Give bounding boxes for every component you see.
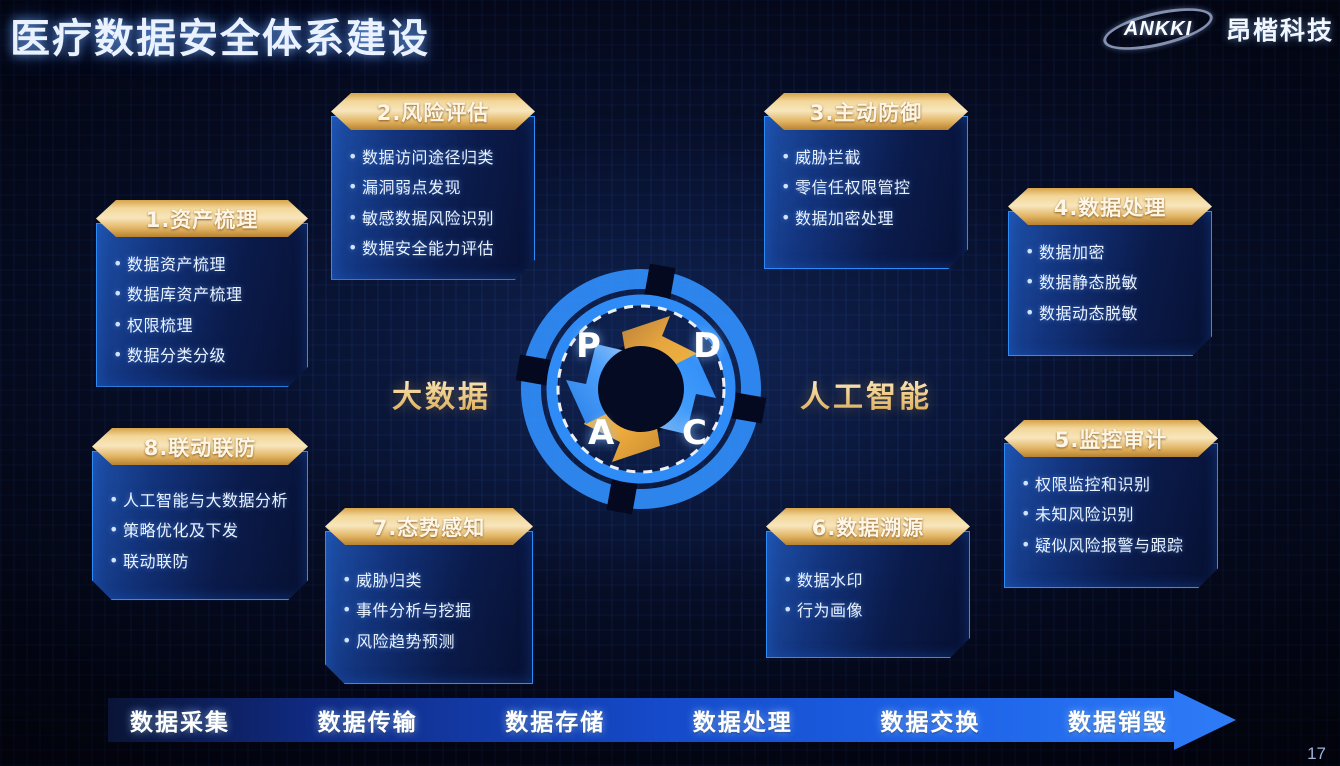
card-1-header: 1.资产梳理 [96,200,308,237]
card-2-list: 数据访问途径归类 漏洞弱点发现 敏感数据风险识别 数据安全能力评估 [348,143,522,265]
pdca-letter-a: A [588,413,614,453]
card-1-title: 1.资产梳理 [146,204,259,234]
list-item: 人工智能与大数据分析 [109,486,295,516]
list-item: 疑似风险报警与跟踪 [1021,531,1205,561]
card-7-title: 7.态势感知 [373,512,486,542]
company-logo: ANKKI 昂楷科技 [1102,8,1334,50]
flow-step-destruction[interactable]: 数据销毁 [1068,703,1168,737]
card-8-title: 8.联动联防 [144,432,257,462]
flow-step-processing[interactable]: 数据处理 [693,703,793,737]
list-item: 联动联防 [109,547,295,577]
card-3-active-defense[interactable]: 3.主动防御 威胁拦截 零信任权限管控 数据加密处理 [764,93,968,269]
list-item: 敏感数据风险识别 [348,204,522,234]
card-2-title: 2.风险评估 [377,97,490,127]
card-6-title: 6.数据溯源 [812,512,925,542]
list-item: 数据加密 [1025,238,1199,268]
list-item: 行为画像 [783,596,957,626]
logo-company-name: 昂楷科技 [1226,11,1334,47]
pdca-letter-d: D [693,326,721,366]
list-item: 数据水印 [783,566,957,596]
card-4-header: 4.数据处理 [1008,188,1212,225]
list-item: 数据动态脱敏 [1025,299,1199,329]
card-1-list: 数据资产梳理 数据库资产梳理 权限梳理 数据分类分级 [113,250,295,372]
list-item: 数据加密处理 [781,204,955,234]
list-item: 权限监控和识别 [1021,470,1205,500]
label-big-data: 大数据 [392,372,491,416]
card-7-situational-awareness[interactable]: 7.态势感知 威胁归类 事件分析与挖掘 风险趋势预测 [325,508,533,684]
list-item: 数据安全能力评估 [348,234,522,264]
card-5-list: 权限监控和识别 未知风险识别 疑似风险报警与跟踪 [1021,470,1205,561]
card-5-title: 5.监控审计 [1055,424,1168,454]
card-3-body: 威胁拦截 零信任权限管控 数据加密处理 [764,116,968,269]
card-4-title: 4.数据处理 [1054,192,1167,222]
list-item: 数据库资产梳理 [113,280,295,310]
card-2-body: 数据访问途径归类 漏洞弱点发现 敏感数据风险识别 数据安全能力评估 [331,116,535,280]
data-lifecycle-flow-arrow: 数据采集 数据传输 数据存储 数据处理 数据交换 数据销毁 [108,690,1236,750]
card-8-list: 人工智能与大数据分析 策略优化及下发 联动联防 [109,486,295,577]
card-8-linked-defense[interactable]: 8.联动联防 人工智能与大数据分析 策略优化及下发 联动联防 [92,428,308,600]
card-8-body: 人工智能与大数据分析 策略优化及下发 联动联防 [92,451,308,600]
list-item: 零信任权限管控 [781,173,955,203]
list-item: 数据资产梳理 [113,250,295,280]
flow-step-transmission[interactable]: 数据传输 [318,703,418,737]
card-7-header: 7.态势感知 [325,508,533,545]
card-1-body: 数据资产梳理 数据库资产梳理 权限梳理 数据分类分级 [96,223,308,387]
pdca-cycle-diagram: P D A C [510,258,772,520]
card-2-risk-assessment[interactable]: 2.风险评估 数据访问途径归类 漏洞弱点发现 敏感数据风险识别 数据安全能力评估 [331,93,535,280]
card-4-list: 数据加密 数据静态脱敏 数据动态脱敏 [1025,238,1199,329]
card-4-body: 数据加密 数据静态脱敏 数据动态脱敏 [1008,211,1212,356]
list-item: 漏洞弱点发现 [348,173,522,203]
list-item: 风险趋势预测 [342,627,520,657]
card-5-body: 权限监控和识别 未知风险识别 疑似风险报警与跟踪 [1004,443,1218,588]
card-6-header: 6.数据溯源 [766,508,970,545]
pdca-letter-c: C [682,413,707,453]
card-7-list: 威胁归类 事件分析与挖掘 风险趋势预测 [342,566,520,657]
card-8-header: 8.联动联防 [92,428,308,465]
page-title: 医疗数据安全体系建设 [10,6,430,64]
list-item: 威胁拦截 [781,143,955,173]
card-2-header: 2.风险评估 [331,93,535,130]
list-item: 策略优化及下发 [109,516,295,546]
flow-steps: 数据采集 数据传输 数据存储 数据处理 数据交换 数据销毁 [108,703,1168,737]
flow-step-storage[interactable]: 数据存储 [505,703,605,737]
label-artificial-intelligence: 人工智能 [800,372,932,416]
card-6-data-tracing[interactable]: 6.数据溯源 数据水印 行为画像 [766,508,970,658]
list-item: 数据分类分级 [113,341,295,371]
card-6-list: 数据水印 行为画像 [783,566,957,627]
pdca-svg [510,258,772,520]
card-3-list: 威胁拦截 零信任权限管控 数据加密处理 [781,143,955,234]
logo-wordmark: ANKKI [1124,18,1192,41]
card-6-body: 数据水印 行为画像 [766,531,970,658]
list-item: 权限梳理 [113,311,295,341]
pdca-letter-p: P [576,326,601,366]
list-item: 数据静态脱敏 [1025,268,1199,298]
card-5-header: 5.监控审计 [1004,420,1218,457]
card-4-data-processing[interactable]: 4.数据处理 数据加密 数据静态脱敏 数据动态脱敏 [1008,188,1212,356]
card-7-body: 威胁归类 事件分析与挖掘 风险趋势预测 [325,531,533,684]
ankki-logo-mark: ANKKI [1102,8,1214,50]
card-3-title: 3.主动防御 [810,97,923,127]
card-1-asset-inventory[interactable]: 1.资产梳理 数据资产梳理 数据库资产梳理 权限梳理 数据分类分级 [96,200,308,387]
card-3-header: 3.主动防御 [764,93,968,130]
page-number: 17 [1307,744,1326,764]
flow-step-collection[interactable]: 数据采集 [130,703,230,737]
list-item: 未知风险识别 [1021,500,1205,530]
card-5-monitoring-audit[interactable]: 5.监控审计 权限监控和识别 未知风险识别 疑似风险报警与跟踪 [1004,420,1218,588]
list-item: 数据访问途径归类 [348,143,522,173]
flow-step-exchange[interactable]: 数据交换 [880,703,980,737]
list-item: 威胁归类 [342,566,520,596]
list-item: 事件分析与挖掘 [342,596,520,626]
